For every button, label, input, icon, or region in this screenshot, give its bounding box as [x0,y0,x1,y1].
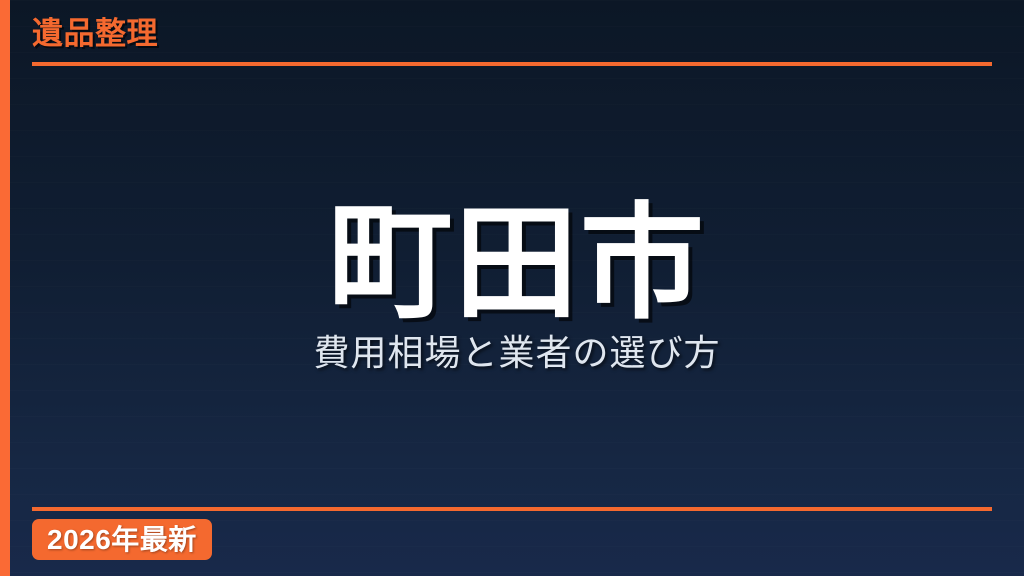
page-title: 町田市 [328,202,706,326]
slide-center-content: 町田市 費用相場と業者の選び方 [10,0,1024,576]
page-subtitle: 費用相場と業者の選び方 [313,332,720,373]
presentation-slide: 遺品整理 町田市 費用相場と業者の選び方 2026年最新 [0,0,1024,576]
left-accent-bar [0,0,10,576]
status-badge-label: 2026年最新 [47,526,197,554]
footer-divider-rule [32,507,992,511]
status-badge: 2026年最新 [32,519,212,560]
